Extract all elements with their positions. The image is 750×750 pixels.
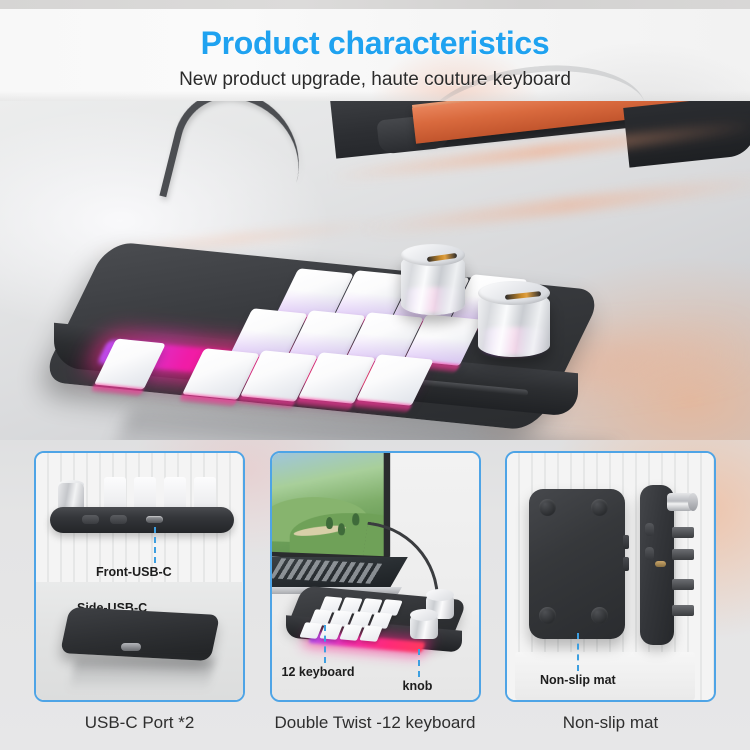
page-subtitle: New product upgrade, haute couture keybo…: [0, 70, 750, 89]
keycap-top: [134, 477, 156, 511]
callout-leader-non-slip-mat: [577, 633, 579, 671]
header-banner: Product characteristics New product upgr…: [0, 9, 750, 101]
device-reflection: [69, 659, 216, 691]
callout-label-knob: knob: [403, 679, 433, 693]
callout-leader-12-keyboard: [324, 625, 326, 663]
device-side-button: [623, 557, 629, 571]
keycap-top: [104, 477, 126, 511]
keycap-top: [164, 477, 186, 511]
device-body-angled: [60, 607, 220, 661]
device-side-port: [672, 579, 694, 590]
callout-leader-front-usb-c: [154, 527, 156, 563]
panel-frame: Front-USB-C Side-USB-C: [34, 451, 245, 702]
callout-leader-knob: [418, 649, 420, 677]
feature-panel-double-twist-keyboard: 12 keyboard knob Double Twist -12 keyboa…: [270, 451, 481, 750]
non-slip-foot: [591, 607, 608, 624]
knob-right-rgb-glow: [480, 327, 548, 355]
device-side-button: [623, 535, 629, 549]
device-front-edge: [50, 507, 234, 533]
device-button: [82, 515, 99, 524]
device-side-port: [672, 549, 694, 560]
keycap-top: [194, 477, 216, 511]
panel-caption-usb-c-port: USB-C Port *2: [34, 714, 245, 733]
panel-caption-double-twist-keyboard: Double Twist -12 keyboard: [270, 714, 481, 733]
product-feature-page: Product characteristics New product upgr…: [0, 0, 750, 750]
device-button: [110, 515, 127, 524]
top-edge-strip: [0, 0, 750, 9]
non-slip-foot: [539, 499, 556, 516]
feature-panel-non-slip-mat: Non-slip mat Non-slip mat: [505, 451, 716, 750]
device-side-port: [672, 527, 694, 538]
callout-label-non-slip-mat: Non-slip mat: [540, 673, 616, 687]
panel-frame: Non-slip mat: [505, 451, 716, 702]
device-bottom-view: [529, 489, 625, 639]
macro-keypad-device: [286, 593, 466, 659]
callout-label-front-usb-c: Front-USB-C: [96, 565, 172, 579]
wallpaper-tree: [337, 523, 344, 535]
device-side-button: [645, 523, 654, 536]
wallpaper-tree: [352, 513, 359, 525]
feature-panels-section: Front-USB-C Side-USB-C USB-C Port *2: [0, 440, 750, 750]
panel-caption-non-slip-mat: Non-slip mat: [505, 714, 716, 733]
device-side-button: [645, 547, 654, 560]
panel-frame: 12 keyboard knob: [270, 451, 481, 702]
callout-label-12-keyboard: 12 keyboard: [282, 665, 355, 679]
device-side-port: [672, 605, 694, 616]
hero-product-photo: [0, 101, 750, 440]
usb-cable: [159, 101, 314, 227]
rotary-knob-side: [667, 493, 693, 511]
light-streak: [359, 172, 750, 239]
wallpaper-tree: [326, 517, 333, 529]
side-usb-c-port: [655, 561, 666, 567]
page-title: Product characteristics: [0, 27, 750, 59]
rotary-knob-front[interactable]: [410, 615, 438, 639]
header-bottom-fade: [0, 91, 750, 101]
non-slip-foot: [539, 607, 556, 624]
knob-left-rgb-glow: [403, 287, 463, 313]
non-slip-foot: [591, 499, 608, 516]
feature-panel-usb-c-port: Front-USB-C Side-USB-C USB-C Port *2: [34, 451, 245, 750]
side-usb-c-port: [121, 643, 141, 651]
front-usb-c-port: [146, 516, 163, 523]
